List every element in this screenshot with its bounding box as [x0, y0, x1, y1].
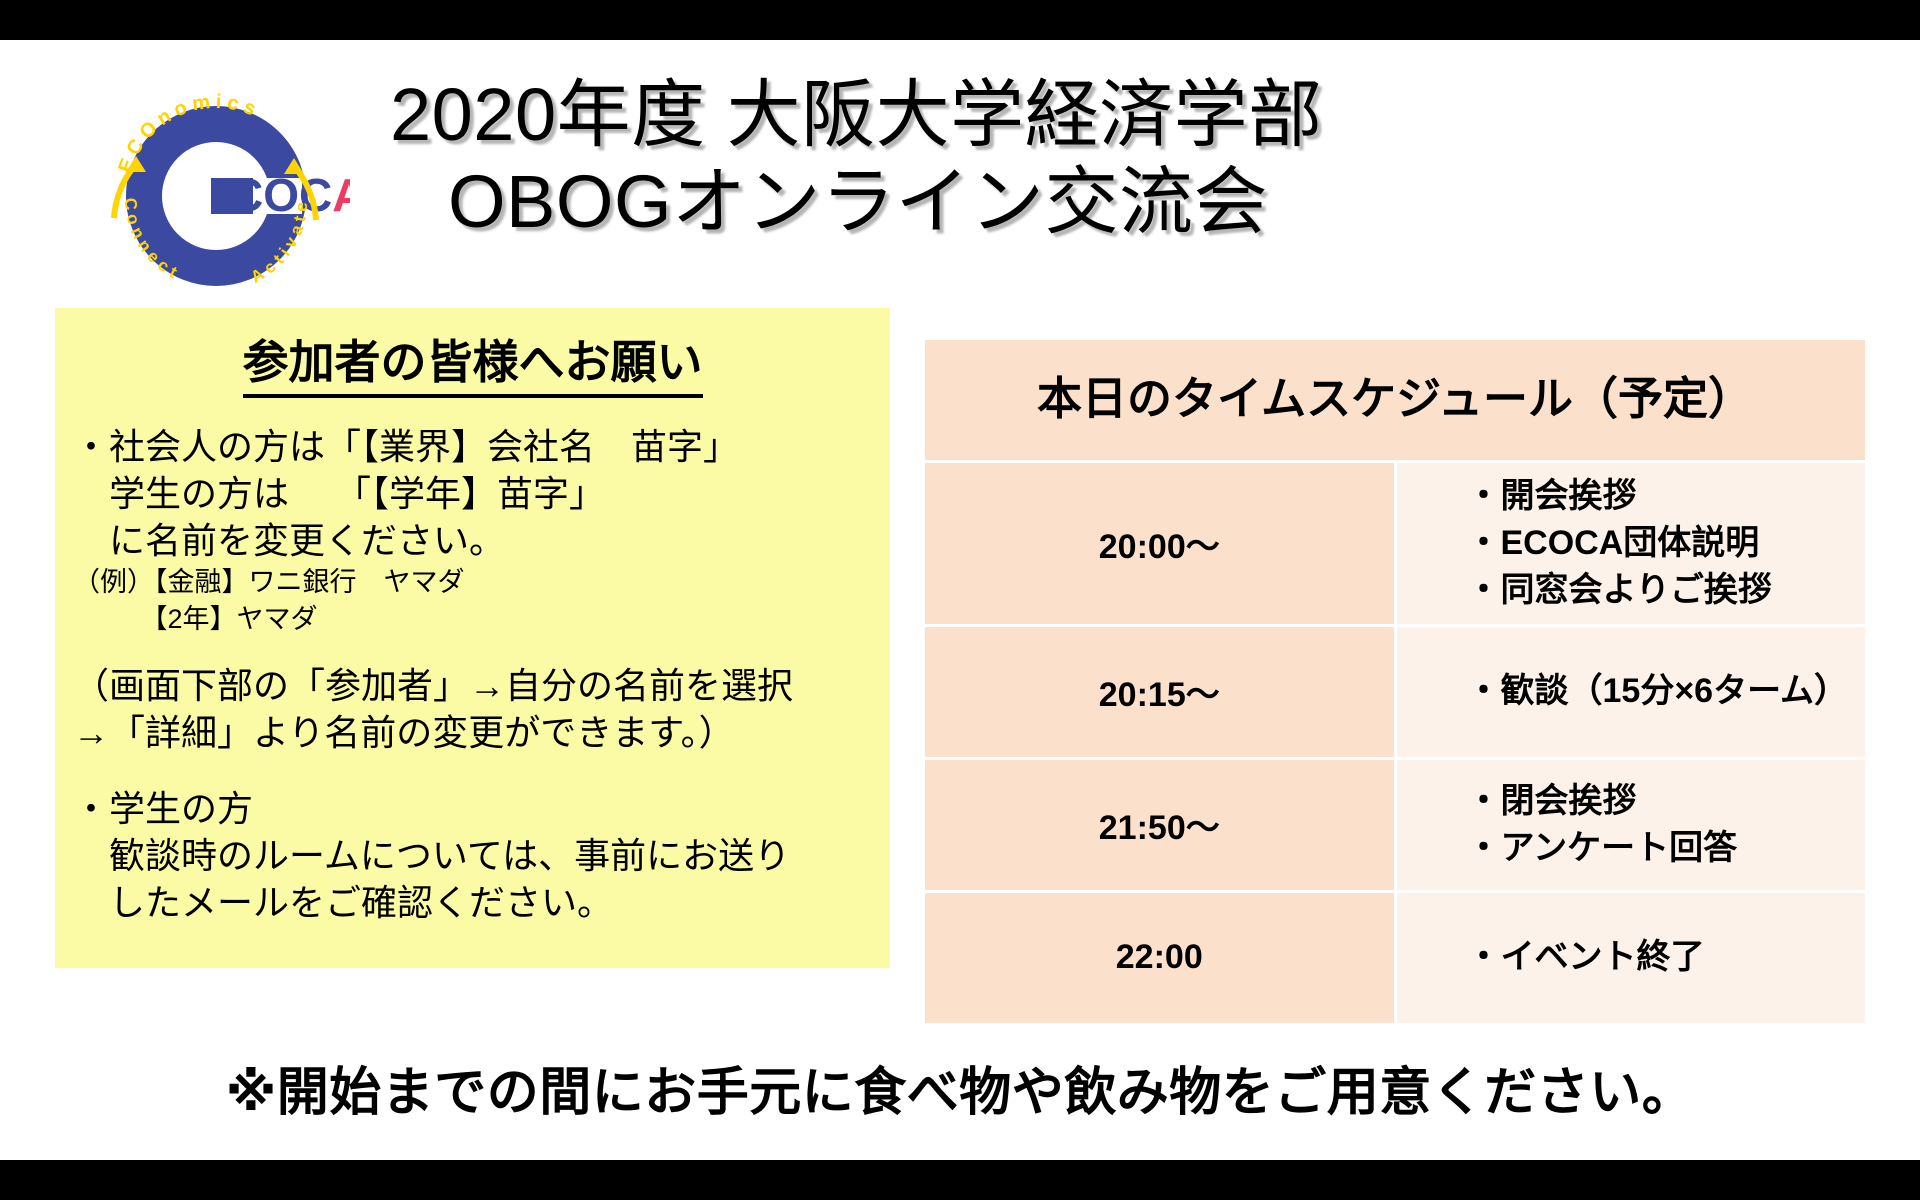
notice-line: →「詳細」より名前の変更ができます。） — [73, 710, 870, 757]
table-row: 20:15〜 ・歓談（15分×6ターム） — [925, 625, 1865, 758]
notice-line: 歓談時のルームについては、事前にお送り — [73, 833, 870, 880]
notice-line: に名前を変更ください。 — [73, 518, 870, 565]
schedule-item: ・イベント終了 — [1467, 934, 1866, 981]
schedule-item: ・閉会挨拶 — [1467, 778, 1866, 825]
schedule-table: 本日のタイムスケジュール（予定） 20:00〜 ・開会挨拶 ・ECOCA団体説明… — [925, 340, 1865, 1023]
title-line-2: OBOGオンライン交流会 — [390, 159, 1570, 246]
schedule-item: ・アンケート回答 — [1467, 825, 1866, 872]
schedule-detail: ・歓談（15分×6ターム） — [1395, 625, 1865, 758]
page-title: 2020年度 大阪大学経済学部 OBOGオンライン交流会 — [390, 72, 1570, 245]
schedule-time: 20:15〜 — [925, 625, 1395, 758]
schedule-time: 22:00 — [925, 891, 1395, 1023]
schedule-detail: ・閉会挨拶 ・アンケート回答 — [1395, 758, 1865, 891]
schedule-detail: ・イベント終了 — [1395, 891, 1865, 1023]
schedule-time: 21:50〜 — [925, 758, 1395, 891]
schedule-item: ・ECOCA団体説明 — [1467, 520, 1866, 567]
table-row: 20:00〜 ・開会挨拶 ・ECOCA団体説明 ・同窓会よりご挨拶 — [925, 462, 1865, 626]
notice-panel: 参加者の皆様へお願い ・社会人の方は「【業界】会社名 苗字」 学生の方は 「【学… — [55, 308, 890, 968]
slide-stage: COCA ECOnomics Connect Activate — [0, 0, 1920, 1200]
notice-body: ・社会人の方は「【業界】会社名 苗字」 学生の方は 「【学年】苗字」 に名前を変… — [55, 398, 890, 927]
notice-line: 学生の方は 「【学年】苗字」 — [73, 471, 870, 518]
table-row: 21:50〜 ・閉会挨拶 ・アンケート回答 — [925, 758, 1865, 891]
schedule-header: 本日のタイムスケジュール（予定） — [925, 340, 1865, 462]
slide-canvas: COCA ECOnomics Connect Activate — [0, 40, 1920, 1160]
table-row: 22:00 ・イベント終了 — [925, 891, 1865, 1023]
notice-heading-text: 参加者の皆様へお願い — [243, 326, 703, 398]
notice-line: したメールをご確認ください。 — [73, 880, 870, 927]
notice-spacer — [73, 756, 870, 786]
notice-spacer — [73, 637, 870, 663]
notice-line: ・社会人の方は「【業界】会社名 苗字」 — [73, 424, 870, 471]
schedule-body: 20:00〜 ・開会挨拶 ・ECOCA団体説明 ・同窓会よりご挨拶 20:15〜… — [925, 462, 1865, 1023]
footer-note: ※開始までの間にお手元に食べ物や飲み物をご用意ください。 — [0, 1050, 1920, 1125]
notice-line-example: 【2年】ヤマダ — [73, 601, 870, 637]
notice-line: （画面下部の「参加者」→自分の名前を選択 — [73, 663, 870, 710]
schedule-item: ・歓談（15分×6ターム） — [1467, 668, 1866, 715]
ecoca-logo: COCA ECOnomics Connect Activate — [80, 68, 350, 298]
schedule-item: ・同窓会よりご挨拶 — [1467, 567, 1866, 614]
logo-wordmark: COCA — [230, 169, 350, 221]
title-line-1: 2020年度 大阪大学経済学部 — [390, 72, 1570, 159]
notice-line: ・学生の方 — [73, 786, 870, 833]
schedule-header-row: 本日のタイムスケジュール（予定） — [925, 340, 1865, 462]
notice-line-example: （例）【金融】ワニ銀行 ヤマダ — [73, 564, 870, 600]
schedule-item: ・開会挨拶 — [1467, 473, 1866, 520]
schedule-time: 20:00〜 — [925, 462, 1395, 626]
schedule-detail: ・開会挨拶 ・ECOCA団体説明 ・同窓会よりご挨拶 — [1395, 462, 1865, 626]
notice-heading: 参加者の皆様へお願い — [55, 308, 890, 398]
